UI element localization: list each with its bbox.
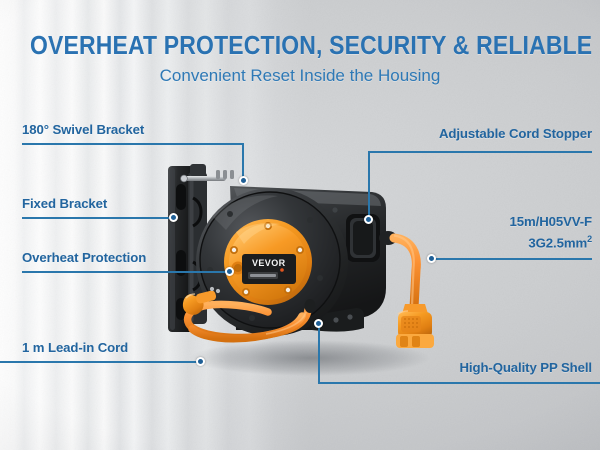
- callout-label-pp-shell: High-Quality PP Shell: [460, 360, 593, 375]
- callout-rule-overheat-protection: [22, 271, 229, 273]
- callout-label-fixed-bracket: Fixed Bracket: [22, 196, 107, 211]
- callout-label-swivel-bracket: 180° Swivel Bracket: [22, 122, 144, 137]
- callout-label-cord-stopper: Adjustable Cord Stopper: [439, 126, 592, 141]
- svg-text:VEVOR: VEVOR: [252, 258, 286, 268]
- callout-label-overheat-protection: Overheat Protection: [22, 250, 146, 265]
- callout-label-cable-spec-gauge: 3G2.5mm2: [528, 234, 592, 250]
- callout-rule-cord-stopper: [368, 151, 592, 153]
- infographic-canvas: VEVOR: [0, 0, 600, 450]
- cable-spec-gauge-text: 3G2.5mm: [528, 235, 587, 250]
- callout-leader-swivel-bracket: [242, 143, 244, 180]
- page-subtitle: Convenient Reset Inside the Housing: [0, 66, 600, 86]
- callout-label-lead-in-cord: 1 m Lead-in Cord: [22, 340, 128, 355]
- orange-hub: VEVOR: [224, 219, 312, 305]
- callout-leader-cord-stopper: [368, 151, 370, 219]
- product-image-cord-reel: VEVOR: [160, 158, 490, 378]
- callout-rule-pp-shell: [318, 382, 600, 384]
- callout-dot-swivel-bracket: [239, 176, 248, 185]
- page-title: OVERHEAT PROTECTION, SECURITY & RELIABLE: [30, 32, 570, 61]
- callout-rule-lead-in-cord: [0, 361, 200, 363]
- callout-leader-pp-shell: [318, 323, 320, 382]
- cable-spec-superscript: 2: [587, 234, 592, 244]
- callout-rule-swivel-bracket: [22, 143, 244, 145]
- output-cord-and-socket: [379, 231, 434, 348]
- callout-rule-fixed-bracket: [22, 217, 173, 219]
- callout-rule-cable-spec: [431, 258, 592, 260]
- callout-label-cable-spec-length: 15m/H05VV-F: [510, 214, 592, 229]
